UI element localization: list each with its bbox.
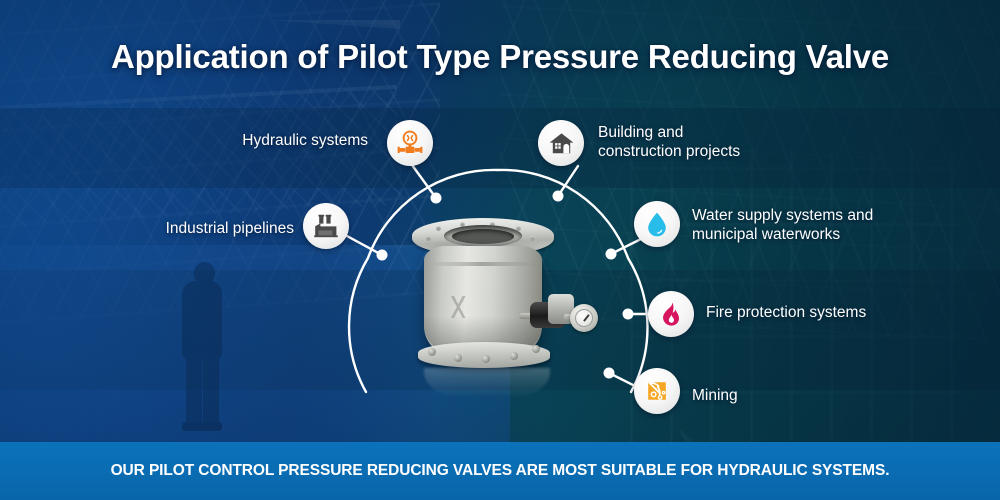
icon-bubble-industrial-pipelines[interactable] [303, 203, 349, 249]
icon-bubble-water-supply[interactable] [634, 201, 680, 247]
label-mining: Mining [692, 386, 738, 405]
node-hydraulic-systems [431, 193, 442, 204]
label-building-construction: Building and construction projects [598, 123, 740, 161]
footer-banner: OUR PILOT CONTROL PRESSURE REDUCING VALV… [0, 442, 1000, 500]
valve-body-logo [446, 296, 472, 318]
node-water-supply [606, 249, 617, 260]
valve-product-image [398, 218, 598, 388]
icon-bubble-mining[interactable] [634, 368, 680, 414]
valve-reflection [424, 368, 550, 398]
label-fire-protection: Fire protection systems [706, 303, 866, 322]
icon-bubble-hydraulic-systems[interactable] [387, 120, 433, 166]
pickaxe-ore-icon [644, 378, 670, 404]
valve-body-rib [428, 262, 538, 266]
label-water-supply-line2: municipal waterworks [692, 225, 873, 244]
valve-top-bore-inner [452, 229, 514, 244]
label-water-supply: Water supply systems and municipal water… [692, 206, 873, 244]
label-industrial-pipelines: Industrial pipelines [166, 219, 294, 238]
infographic-stage: Application of Pilot Type Pressure Reduc… [0, 0, 1000, 500]
spoke-hydraulic-systems [412, 165, 436, 198]
house-icon [548, 130, 575, 157]
icon-bubble-fire-protection[interactable] [648, 291, 694, 337]
factory-icon [313, 213, 339, 239]
label-building-construction-line1: Building and [598, 123, 740, 142]
label-building-construction-line2: construction projects [598, 142, 740, 161]
valve-gauge-icon [396, 129, 424, 157]
node-industrial-pipelines [377, 250, 388, 261]
icon-bubble-building-construction[interactable] [538, 120, 584, 166]
footer-banner-text: OUR PILOT CONTROL PRESSURE REDUCING VALV… [111, 462, 890, 480]
label-hydraulic-systems: Hydraulic systems [242, 131, 368, 150]
node-building-construction [553, 191, 564, 202]
water-drop-icon [645, 211, 669, 237]
label-water-supply-line1: Water supply systems and [692, 206, 873, 225]
node-mining [604, 368, 615, 379]
node-fire-protection [623, 309, 634, 320]
flame-icon [659, 301, 683, 327]
